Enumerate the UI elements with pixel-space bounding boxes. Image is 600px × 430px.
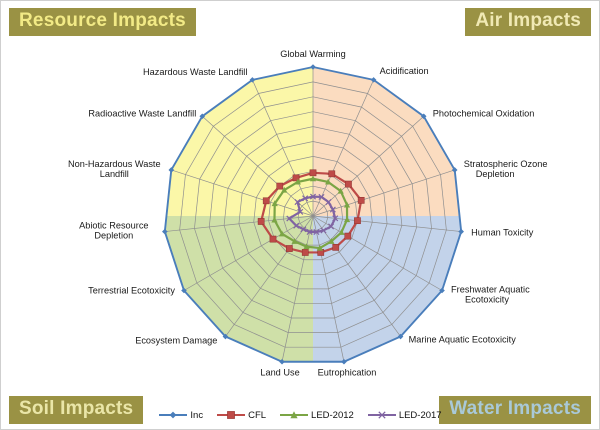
legend-item-cfl[interactable]: CFL xyxy=(216,409,266,421)
axis-label-global-warming: Global Warming xyxy=(280,49,346,59)
axis-label-acidification: Acidification xyxy=(380,66,429,76)
data-point xyxy=(263,198,269,204)
data-point xyxy=(345,233,351,239)
axis-label-freshwater-aquatic-ecotoxicity: Freshwater AquaticEcotoxicity xyxy=(451,285,530,305)
legend-marker-diamond-icon xyxy=(158,409,188,421)
data-point xyxy=(345,181,351,187)
legend-item-led-2012[interactable]: LED-2012 xyxy=(279,409,354,421)
data-point xyxy=(286,245,292,251)
axis-label-marine-aquatic-ecotoxicity: Marine Aquatic Ecotoxicity xyxy=(409,335,517,345)
badge-air-impacts: Air Impacts xyxy=(465,8,591,36)
badge-resource-impacts: Resource Impacts xyxy=(9,8,196,36)
legend-label: LED-2017 xyxy=(399,410,442,421)
legend-label: Inc xyxy=(190,410,203,421)
axis-label-abiotic-resource-depletion: Abiotic ResourceDepletion xyxy=(79,221,148,241)
data-point xyxy=(354,218,360,224)
legend-item-inc[interactable]: Inc xyxy=(158,409,203,421)
axis-label-land-use: Land Use xyxy=(260,368,299,378)
data-point xyxy=(358,197,364,203)
axis-label-non-hazardous-waste-landfill: Non-Hazardous WasteLandfill xyxy=(68,159,161,179)
axis-label-eutrophication: Eutrophication xyxy=(318,368,377,378)
chart-legend: IncCFLLED-2012LED-2017 xyxy=(0,409,600,421)
axis-label-human-toxicity: Human Toxicity xyxy=(471,228,534,238)
axis-label-terrestrial-ecotoxicity: Terrestrial Ecotoxicity xyxy=(88,286,175,296)
data-point xyxy=(333,244,339,250)
data-point xyxy=(258,218,264,224)
quadrant-backgrounds xyxy=(0,0,600,430)
data-point xyxy=(270,236,276,242)
legend-label: CFL xyxy=(248,410,266,421)
data-point xyxy=(310,170,316,176)
axis-label-radioactive-waste-landfill: Radioactive Waste Landfill xyxy=(88,108,196,118)
axis-label-stratospheric-ozone-depletion: Stratospheric OzoneDepletion xyxy=(464,159,548,179)
radar-chart: Global WarmingAcidificationPhotochemical… xyxy=(0,0,600,430)
data-point xyxy=(302,249,308,255)
legend-marker-square-icon xyxy=(216,409,246,421)
legend-label: LED-2012 xyxy=(311,410,354,421)
axis-label-hazardous-waste-landfill: Hazardous Waste Landfill xyxy=(143,67,247,77)
legend-item-led-2017[interactable]: LED-2017 xyxy=(367,409,442,421)
data-point xyxy=(329,171,335,177)
data-point xyxy=(277,183,283,189)
axis-label-photochemical-oxidation: Photochemical Oxidation xyxy=(433,108,535,118)
legend-marker-cross-icon xyxy=(367,409,397,421)
axis-label-ecosystem-damage: Ecosystem Damage xyxy=(135,336,217,346)
legend-marker-triangle-icon xyxy=(279,409,309,421)
